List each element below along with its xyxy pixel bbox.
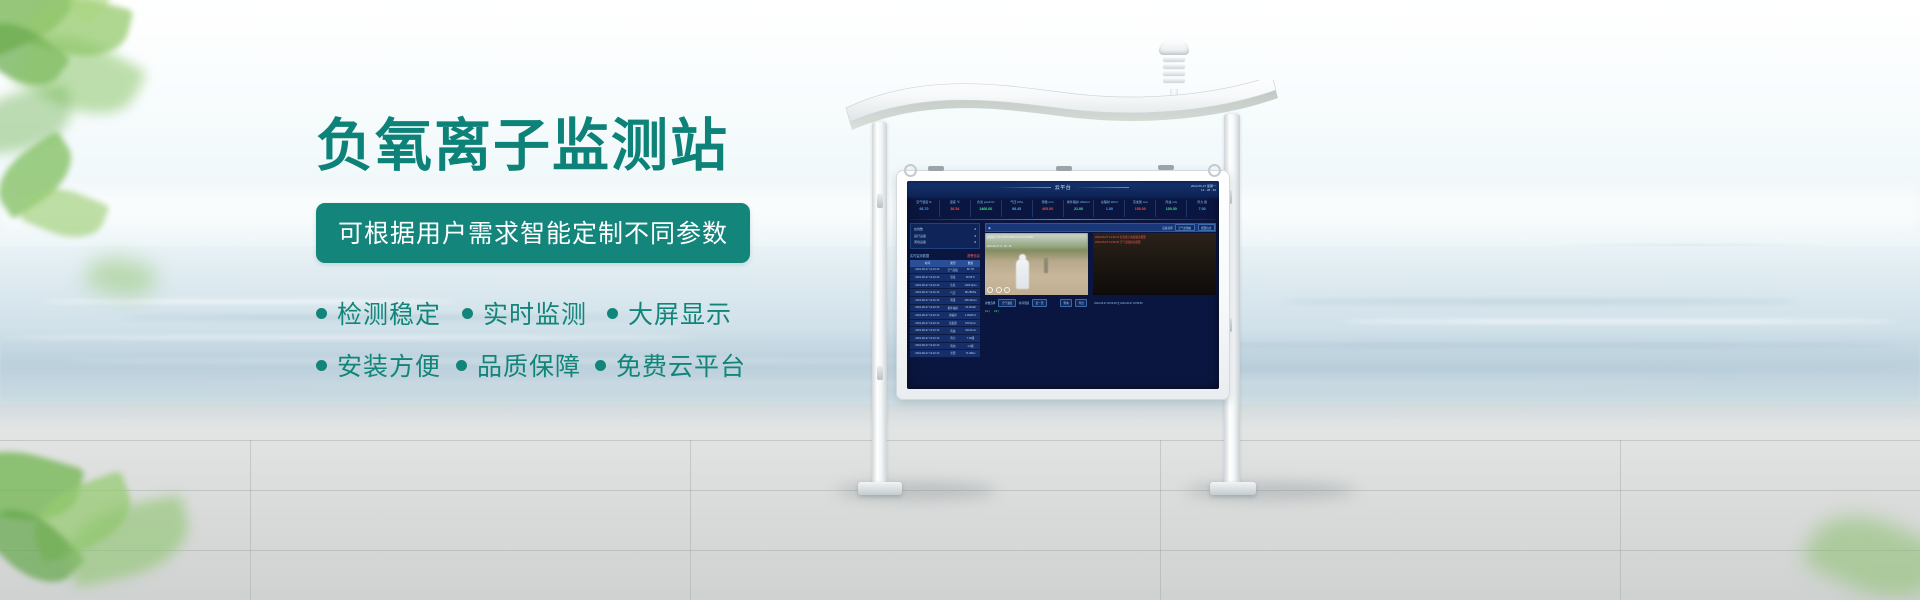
cell-type: 紫外辐射 [945,304,961,312]
table-row[interactable]: 2022-06-27 14:24:13 风向 1.0级 [910,342,980,350]
feature-item-easy-install: 安装方便 [316,347,456,383]
metric-negative-ion: 负氧 pcs/cm³ 1466.00 [971,200,1002,217]
table-body: 2022-06-27 14:24:13 空气湿度 66.7% 2022-06-2… [910,267,980,358]
metric-value: 66.70 [919,207,928,211]
metric-wind-force: 风力 级 7.00 [1187,200,1217,217]
table-header-row: 时间 类型 数值 [910,260,980,267]
realtime-data-table[interactable]: 时间 类型 数值 2022-06-27 14:24:13 空气湿度 66.7% [910,260,980,358]
bullet-dot-icon [456,360,467,371]
left-panel: 在线数 2 运行设备 2 离线设备 0 [910,223,980,358]
status-value: 2 [974,226,976,233]
metric-value: 21.00 [1074,207,1083,211]
cell-time: 2022-06-27 14:24:13 [910,342,945,350]
cell-time: 2022-06-27 14:24:13 [910,267,945,274]
status-row-offline: 离线设备 0 [914,239,976,246]
cell-time: 2022-06-27 14:24:13 [910,304,945,312]
cell-value: 7.00级 [961,334,980,342]
table-row[interactable]: 2022-06-27 14:24:13 雨量 405.00mm [910,296,980,304]
query-bar: 参数选择 空气湿度 时间范围 近一天 查询 导出 2022-06-27 00:0… [985,299,1216,307]
water-ripple [1340,320,1900,323]
status-box: 在线数 2 运行设备 2 离线设备 0 [910,223,980,249]
table-row[interactable]: 2022-06-27 14:24:13 总辐射 1.00W/m² [910,312,980,320]
column-header-type: 类型 [945,260,961,267]
dashboard-clock: 2022-06-27 星期一 14 : 28 : 36 [1191,184,1216,193]
legend-value-2: 23 | [994,309,999,313]
feature-item-stable: 检测稳定 [316,295,462,331]
table-row[interactable]: 2022-06-27 14:24:13 温度 36.54℃ [910,274,980,282]
table-section-label: 实时监测数据 [910,253,929,258]
alarm-line: 2022-06-27 13:02:55 空气湿度超标报警 [1095,240,1214,244]
table-row[interactable]: 2022-06-27 14:24:13 风力 7.00级 [910,334,980,342]
page-title: 负氧离子监测站 [316,118,746,175]
status-value: 0 [974,239,976,246]
video-toolbar: ◉ 设备选择 空气监测站 报警信息 [985,223,1216,232]
feature-item-realtime: 实时监测 [462,295,607,331]
cell-value: 66.7% [961,267,980,274]
status-value: 2 [974,233,976,240]
cell-type: 空气湿度 [945,267,961,274]
metric-temperature: 温度 ℃ 36.54 [940,200,971,217]
sensor-cap [1159,40,1189,55]
camera-icon: ◉ [988,226,991,230]
metric-value: 1.00 [1106,207,1113,211]
bullet-dot-icon [316,308,327,319]
feature-label: 实时监测 [483,295,587,331]
cell-value: 1.0级 [961,342,980,350]
metric-value: 150.00 [1135,207,1146,211]
feed-overlay-device: 设备编号: ZS-JCZ2740AB3-CGLCQ740AB3 [987,235,1034,239]
table-row[interactable]: 2022-06-27 14:24:13 负氧 1466.0pcs [910,281,980,289]
table-header-bar: 实时监测数据 报警信息 [910,253,980,258]
feed-field-post [1044,258,1048,273]
cell-value: 100.0m/s [961,327,980,335]
bullet-dot-icon [607,308,618,319]
play-icon[interactable] [987,287,993,293]
feed-person [1016,259,1029,289]
pavement-seam [1620,440,1621,600]
cell-time: 2022-06-27 14:24:13 [910,350,945,358]
bullet-dot-icon [595,360,606,371]
mount-hook-left [904,164,917,177]
cell-value: 405.00mm [961,296,980,304]
cabinet-top-nub [928,166,944,171]
feature-item-bigscreen: 大屏显示 [607,295,732,331]
sensor-ring [1163,57,1185,61]
cell-type: 风向 [945,342,961,350]
table-row[interactable]: 2022-06-27 14:24:13 空气湿度 66.7% [910,267,980,274]
canopy-shape [842,80,1280,142]
cell-type: 温度 [945,274,961,282]
mount-hook-right [1208,164,1221,177]
date-range-text: 2022-06-27 00:00:00 至 2022-06-27 23:59:5… [1094,301,1142,305]
dashboard: 云平台 2022-06-27 星期一 14 : 28 : 36 空气湿度 % 6… [907,181,1219,389]
cell-value: 1466.0pcs [961,281,980,289]
feature-label: 检测稳定 [337,295,441,331]
metric-label: 风力 级 [1187,200,1217,204]
cell-type: 风速 [945,327,961,335]
metrics-divider [910,219,1216,220]
param-label: 参数选择 [985,301,995,305]
metric-label: 气压 KPa [1002,200,1032,204]
feature-item-free-cloud: 免费云平台 [595,347,746,383]
bullet-dot-icon [316,360,327,371]
clock-time: 14 : 28 : 36 [1191,188,1216,192]
cell-value: 150.0mm [961,319,980,327]
metric-label: 温度 ℃ [940,200,970,204]
metric-value: 98.45 [1012,207,1021,211]
title-rule-right [1075,187,1129,188]
cell-time: 2022-06-27 14:24:13 [910,327,945,335]
metrics-strip: 空气湿度 % 66.70 温度 ℃ 36.54 负氧 pcs/cm³ 1466.… [909,200,1217,217]
post-bracket [877,194,883,208]
table-row[interactable]: 2022-06-27 14:24:13 气压 98.45KPa [910,289,980,297]
fullscreen-icon[interactable] [1004,287,1010,293]
feature-label: 大屏显示 [628,295,732,331]
camera-feed[interactable]: 设备编号: ZS-JCZ2740AB3-CGLCQ740AB3 2022-06-… [985,233,1088,295]
feature-row: 检测稳定 实时监测 大屏显示 [316,295,746,331]
support-post-left [872,122,887,490]
cell-time: 2022-06-27 14:24:13 [910,289,945,297]
promo-banner: 负氧离子监测站 可根据用户需求智能定制不同参数 检测稳定 实时监测 大屏显示 [0,0,1920,600]
metric-value: 1466.00 [979,207,992,211]
banner-copy: 负氧离子监测站 可根据用户需求智能定制不同参数 检测稳定 实时监测 大屏显示 [316,118,746,399]
subtitle-badge: 可根据用户需求智能定制不同参数 [316,203,750,263]
dashboard-title: 云平台 [907,184,1219,191]
metric-label: 紫外辐射 uW/cm² [1064,200,1094,204]
water-ripple [1280,300,1800,303]
status-row-online: 在线数 2 [914,226,976,233]
metric-total-radiation: 总辐射 W/m² 1.00 [1094,200,1125,217]
cell-type: 蒸发量 [945,319,961,327]
cell-value: 21.00uW [961,304,980,312]
metric-value: 405.00 [1042,207,1053,211]
feature-label: 安装方便 [337,347,441,383]
metric-label: 总辐射 W/m² [1094,200,1124,204]
cell-time: 2022-06-27 14:24:13 [910,312,945,320]
cell-value: 71.00lux [961,350,980,358]
cell-type: 光照 [945,350,961,358]
cell-time: 2022-06-27 14:24:13 [910,296,945,304]
pavement-seam [0,550,1920,551]
cell-time: 2022-06-27 14:24:13 [910,319,945,327]
pavement-seam [250,440,251,600]
cell-type: 总辐射 [945,312,961,320]
cabinet-top-nub [1056,166,1072,171]
metric-label: 风速 m/s [1156,200,1186,204]
cell-type: 雨量 [945,296,961,304]
alarm-panel: 2022-06-27 14:24:13 负氧离子浓度偏高报警 2022-06-2… [1093,233,1216,295]
post-base-plate-right [1210,482,1256,495]
display-cabinet: 云平台 2022-06-27 星期一 14 : 28 : 36 空气湿度 % 6… [896,170,1230,400]
status-row-running: 运行设备 2 [914,233,976,240]
table-row[interactable]: 2022-06-27 14:24:13 光照 71.00lux [910,350,980,358]
metric-label: 空气湿度 % [909,200,939,204]
cabinet-top-nub [1158,165,1174,170]
feature-item-quality: 品质保障 [456,347,595,383]
status-label: 离线设备 [914,239,926,246]
bullet-dot-icon [462,308,473,319]
sensor-ring [1163,64,1185,68]
param-select[interactable]: 空气湿度 [998,299,1015,306]
alarm-line: 2022-06-27 14:24:13 负氧离子浓度偏高报警 [1095,235,1214,239]
canopy-roof [842,80,1280,142]
cell-value: 1.00W/m² [961,312,980,320]
cell-type: 负氧 [945,281,961,289]
metric-evaporation: 蒸发量 mm 150.00 [1125,200,1156,217]
table-row[interactable]: 2022-06-27 14:24:13 紫外辐射 21.00uW [910,304,980,312]
metric-label: 蒸发量 mm [1125,200,1155,204]
feature-label: 免费云平台 [616,347,746,383]
metric-uv: 紫外辐射 uW/cm² 21.00 [1064,200,1095,217]
status-label: 在线数 [914,226,923,233]
metric-humidity: 空气湿度 % 66.70 [909,200,940,217]
range-label: 时间范围 [1019,301,1029,305]
device-selector[interactable]: 设备选择 空气监测站 [1162,224,1194,231]
table-row[interactable]: 2022-06-27 14:24:13 蒸发量 150.0mm [910,319,980,327]
feature-list: 检测稳定 实时监测 大屏显示 安装方便 品质保障 [316,295,746,383]
metric-value: 100.00 [1166,207,1177,211]
sensor-ring [1163,71,1185,75]
metric-value: 7.00 [1199,207,1206,211]
metric-label: 雨量 mm [1033,200,1063,204]
alarm-label: 报警信息 [967,253,980,258]
chart-legend: 12 | 23 | [985,309,1216,313]
table-row[interactable]: 2022-06-27 14:24:13 风速 100.0m/s [910,327,980,335]
feature-row: 安装方便 品质保障 免费云平台 [316,347,746,383]
cell-time: 2022-06-27 14:24:13 [910,281,945,289]
cell-type: 风力 [945,334,961,342]
feature-label: 品质保障 [477,347,581,383]
range-select[interactable]: 近一天 [1032,299,1047,306]
post-bracket [877,366,883,380]
feed-overlay-time: 2022-06-27 14 : 28 : 36 [987,245,1012,248]
feed-controls[interactable] [987,287,1010,293]
cell-value: 98.45KPa [961,289,980,297]
metric-rainfall: 雨量 mm 405.00 [1033,200,1064,217]
query-button[interactable]: 查询 [1060,299,1072,306]
metric-wind-speed: 风速 m/s 100.00 [1156,200,1187,217]
post-base-plate-left [858,482,902,495]
title-rule-left [997,187,1051,188]
column-header-value: 数值 [961,260,980,267]
alarm-panel-title: 报警信息 [1198,224,1215,231]
column-header-time: 时间 [910,260,945,267]
metric-value: 36.54 [950,207,959,211]
metric-pressure: 气压 KPa 98.45 [1002,200,1033,217]
device-select-value[interactable]: 空气监测站 [1175,224,1195,231]
cell-value: 36.54℃ [961,274,980,282]
cell-time: 2022-06-27 14:24:13 [910,274,945,282]
pavement-seam [690,440,691,600]
status-label: 运行设备 [914,233,926,240]
dashboard-title-text: 云平台 [1055,185,1072,191]
lcd-screen[interactable]: 云平台 2022-06-27 星期一 14 : 28 : 36 空气湿度 % 6… [907,181,1219,389]
monitoring-station: 云平台 2022-06-27 星期一 14 : 28 : 36 空气湿度 % 6… [820,18,1340,518]
export-button[interactable]: 导出 [1075,299,1087,306]
legend-value-1: 12 | [985,309,990,313]
snapshot-icon[interactable] [996,287,1002,293]
cell-type: 气压 [945,289,961,297]
device-select-label: 设备选择 [1162,226,1172,230]
metric-label: 负氧 pcs/cm³ [971,200,1001,204]
cell-time: 2022-06-27 14:24:13 [910,334,945,342]
